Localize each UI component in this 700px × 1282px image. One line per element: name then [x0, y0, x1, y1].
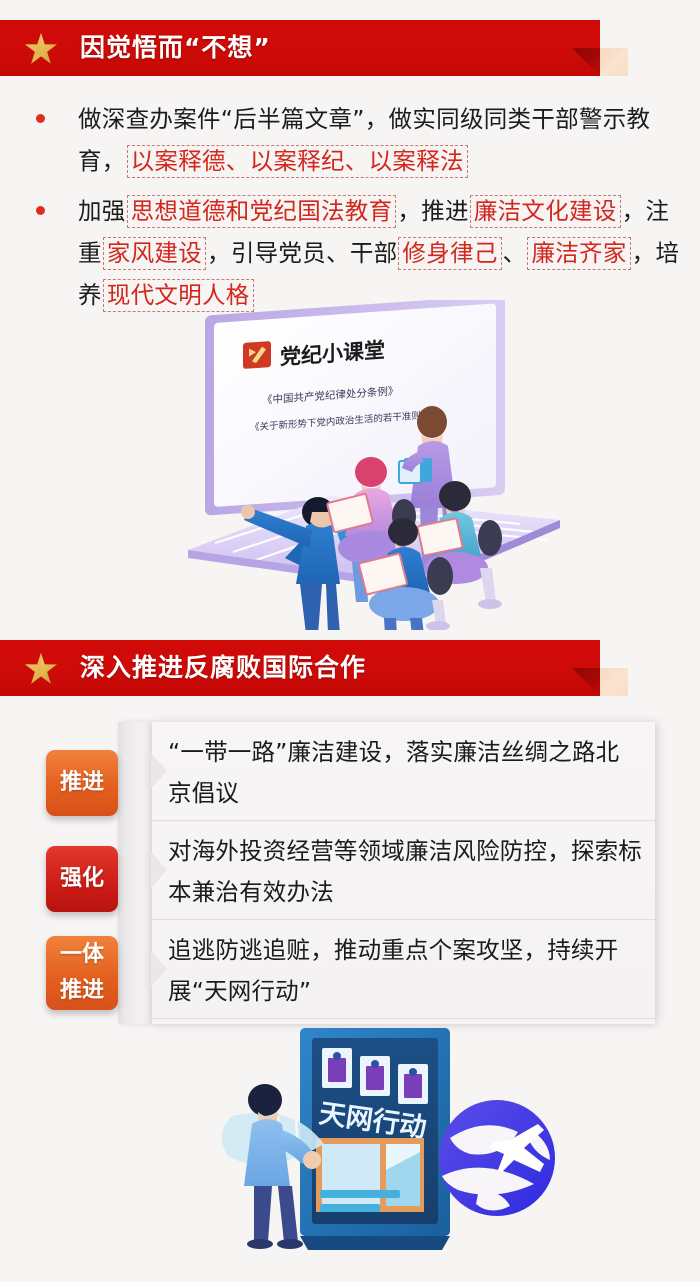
- highlight-phrase: 廉洁文化建设: [470, 195, 621, 228]
- party-emblem-icon: [243, 341, 271, 369]
- bullet-text: 做深查办案件“后半篇文章”，做实同级同类干部警示教育，以案释德、以案释纪、以案释…: [78, 98, 700, 182]
- plain-phrase: 、: [503, 239, 527, 267]
- bullet-dot-icon: [36, 114, 45, 123]
- list-item: “一带一路”廉洁建设，落实廉洁丝绸之路北京倡议: [152, 722, 655, 821]
- gold-star-icon: [24, 32, 58, 65]
- section1-bullet-list: 做深查办案件“后半篇文章”，做实同级同类干部警示教育，以案释德、以案释纪、以案释…: [0, 98, 700, 316]
- highlight-phrase: 思想道德和党纪国法教育: [127, 195, 397, 228]
- globe-airplane-icon: [439, 1100, 555, 1216]
- bullet-item: 加强思想道德和党纪国法教育，推进廉洁文化建设，注重家风建设，引导党员、干部修身律…: [0, 190, 700, 316]
- badge-tuijin: 推进: [46, 750, 118, 816]
- bullet-dot-icon: [36, 206, 45, 215]
- classroom-lecture-illustration: 党纪小课堂 《中国共产党纪律处分条例》 《关于新形势下党内政治生活的若干准则》: [0, 300, 700, 630]
- highlight-phrase: 廉洁齐家: [527, 237, 630, 270]
- section2-banner-fold: [600, 668, 628, 696]
- badge-qianghua: 强化: [46, 846, 118, 912]
- section2-title: 深入推进反腐败国际合作: [80, 640, 366, 696]
- list-item-text: 追逃防逃追赃，推动重点个案攻坚，持续开展“天网行动”: [168, 930, 643, 1012]
- section1-title: 因觉悟而“不想”: [80, 20, 271, 76]
- list-item: 对海外投资经营等领域廉洁风险防控，探索标本兼治有效办法: [152, 821, 655, 920]
- list-item-text: “一带一路”廉洁建设，落实廉洁丝绸之路北京倡议: [168, 732, 643, 814]
- highlight-phrase: 以案释德、以案释纪、以案释法: [127, 145, 468, 178]
- highlight-phrase: 家风建设: [103, 237, 206, 270]
- item-notch-icon: [151, 753, 167, 789]
- section1-banner: 因觉悟而“不想”: [0, 20, 600, 76]
- highlight-phrase: 修身律己: [398, 237, 501, 270]
- list-item: 追逃防逃追赃，推动重点个案攻坚，持续开展“天网行动”: [152, 920, 655, 1019]
- badge-yitituijin: 一体 推进: [46, 936, 118, 1010]
- badge-label-line1: 一体: [46, 937, 118, 973]
- list-item-text: 对海外投资经营等领域廉洁风险防控，探索标本兼治有效办法: [168, 831, 643, 913]
- plain-phrase: ，引导党员、干部: [207, 239, 397, 267]
- infographic-page: 因觉悟而“不想” 做深查办案件“后半篇文章”，做实同级同类干部警示教育，以案释德…: [0, 0, 700, 1282]
- bullet-item: 做深查办案件“后半篇文章”，做实同级同类干部警示教育，以案释德、以案释纪、以案释…: [0, 98, 700, 182]
- skynet-operation-illustration: 天网行动: [0, 1020, 700, 1260]
- kiosk-display: 天网行动: [300, 1028, 450, 1250]
- plain-phrase: ，推进: [397, 197, 468, 225]
- section1-banner-fold: [600, 48, 628, 76]
- badge-label: 推进: [60, 770, 104, 795]
- plain-phrase: 加强: [78, 197, 126, 225]
- section2-item-panel: “一带一路”廉洁建设，落实廉洁丝绸之路北京倡议 对海外投资经营等领域廉洁风险防控…: [152, 722, 655, 1024]
- badge-label-line2: 推进: [46, 973, 118, 1009]
- badge-label: 强化: [60, 866, 104, 891]
- gold-star-icon: [24, 652, 58, 685]
- item-notch-icon: [151, 852, 167, 888]
- bullet-text: 加强思想道德和党纪国法教育，推进廉洁文化建设，注重家风建设，引导党员、干部修身律…: [78, 190, 700, 316]
- section2-banner: 深入推进反腐败国际合作: [0, 640, 600, 696]
- item-notch-icon: [151, 951, 167, 987]
- list-rail: [118, 722, 152, 1024]
